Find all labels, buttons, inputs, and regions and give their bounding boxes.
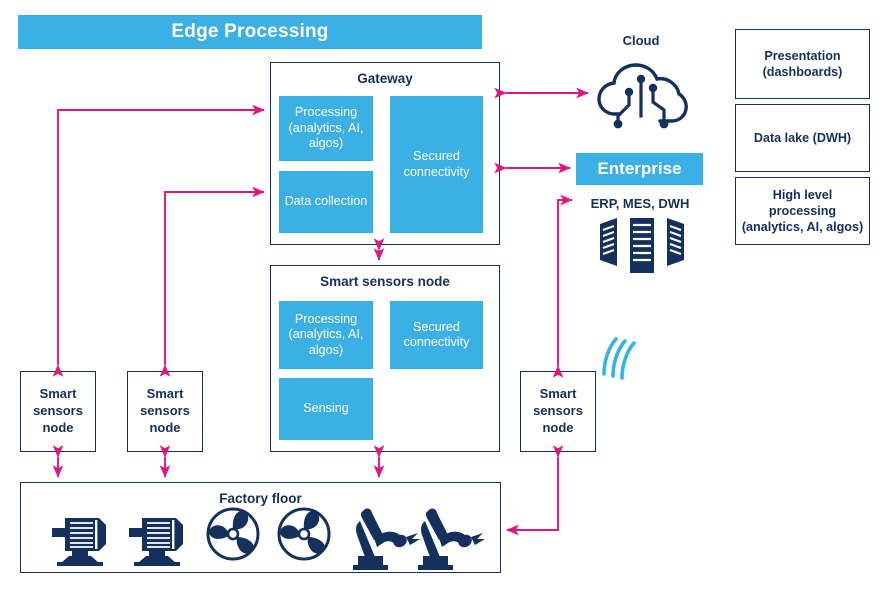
- legend-high-level-processing: High level processing (analytics, AI, al…: [735, 177, 870, 245]
- gateway-secured-connectivity-block: Secured connectivity: [390, 96, 483, 233]
- sensor-node-right: Smart sensors node: [520, 371, 596, 452]
- arrow-sensor-middle-to-gateway-data-collection: [165, 192, 264, 365]
- ssn-sensing-label: Sensing: [303, 401, 349, 416]
- gateway-data-collection-label: Data collection: [285, 194, 368, 209]
- ssn-secured-connectivity-block: Secured connectivity: [390, 301, 483, 369]
- gateway-processing-block: Processing (analytics, AI, algos): [279, 96, 373, 161]
- cloud-label: Cloud: [586, 33, 696, 48]
- edge-processing-title: Edge Processing: [171, 21, 328, 43]
- wireless-signal-icon: [604, 339, 634, 378]
- sensor-node-right-label: Smart sensors node: [521, 386, 595, 437]
- diagram-canvas: Edge Processing Gateway Processing (anal…: [0, 0, 880, 598]
- server-rack-icon: [600, 218, 684, 273]
- cloud-circuit-icon: [599, 65, 686, 128]
- ssn-processing-block: Processing (analytics, AI, algos): [279, 301, 373, 369]
- arrow-sensor-right-to-factory-floor: [507, 457, 558, 530]
- arrow-sensor-right-to-enterprise-systems: [558, 200, 572, 366]
- smart-sensors-node-title: Smart sensors node: [271, 274, 499, 289]
- gateway-secured-connectivity-label: Secured connectivity: [392, 149, 481, 180]
- factory-floor-container: Factory floor: [20, 482, 501, 573]
- ssn-sensing-block: Sensing: [279, 378, 373, 440]
- legend-presentation: Presentation (dashboards): [735, 29, 870, 99]
- sensor-node-left: Smart sensors node: [20, 371, 96, 452]
- factory-floor-title: Factory floor: [21, 491, 500, 506]
- ssn-secured-connectivity-label: Secured connectivity: [392, 320, 481, 351]
- edge-processing-banner: Edge Processing: [18, 15, 482, 49]
- legend-data-lake: Data lake (DWH): [735, 104, 870, 172]
- legend-presentation-label: Presentation (dashboards): [741, 48, 864, 80]
- legend-high-level-processing-label: High level processing (analytics, AI, al…: [741, 187, 864, 235]
- enterprise-systems-label: ERP, MES, DWH: [575, 196, 705, 211]
- sensor-node-middle: Smart sensors node: [127, 371, 203, 452]
- arrow-sensor-left-to-gateway-processing: [58, 110, 264, 365]
- ssn-processing-label: Processing (analytics, AI, algos): [281, 312, 371, 358]
- sensor-node-left-label: Smart sensors node: [21, 386, 95, 437]
- sensor-node-middle-label: Smart sensors node: [128, 386, 202, 437]
- enterprise-badge: Enterprise: [576, 153, 703, 185]
- enterprise-badge-label: Enterprise: [597, 159, 681, 179]
- gateway-processing-label: Processing (analytics, AI, algos): [281, 105, 371, 151]
- gateway-data-collection-block: Data collection: [279, 171, 373, 233]
- gateway-title: Gateway: [271, 71, 499, 86]
- legend-data-lake-label: Data lake (DWH): [754, 130, 851, 146]
